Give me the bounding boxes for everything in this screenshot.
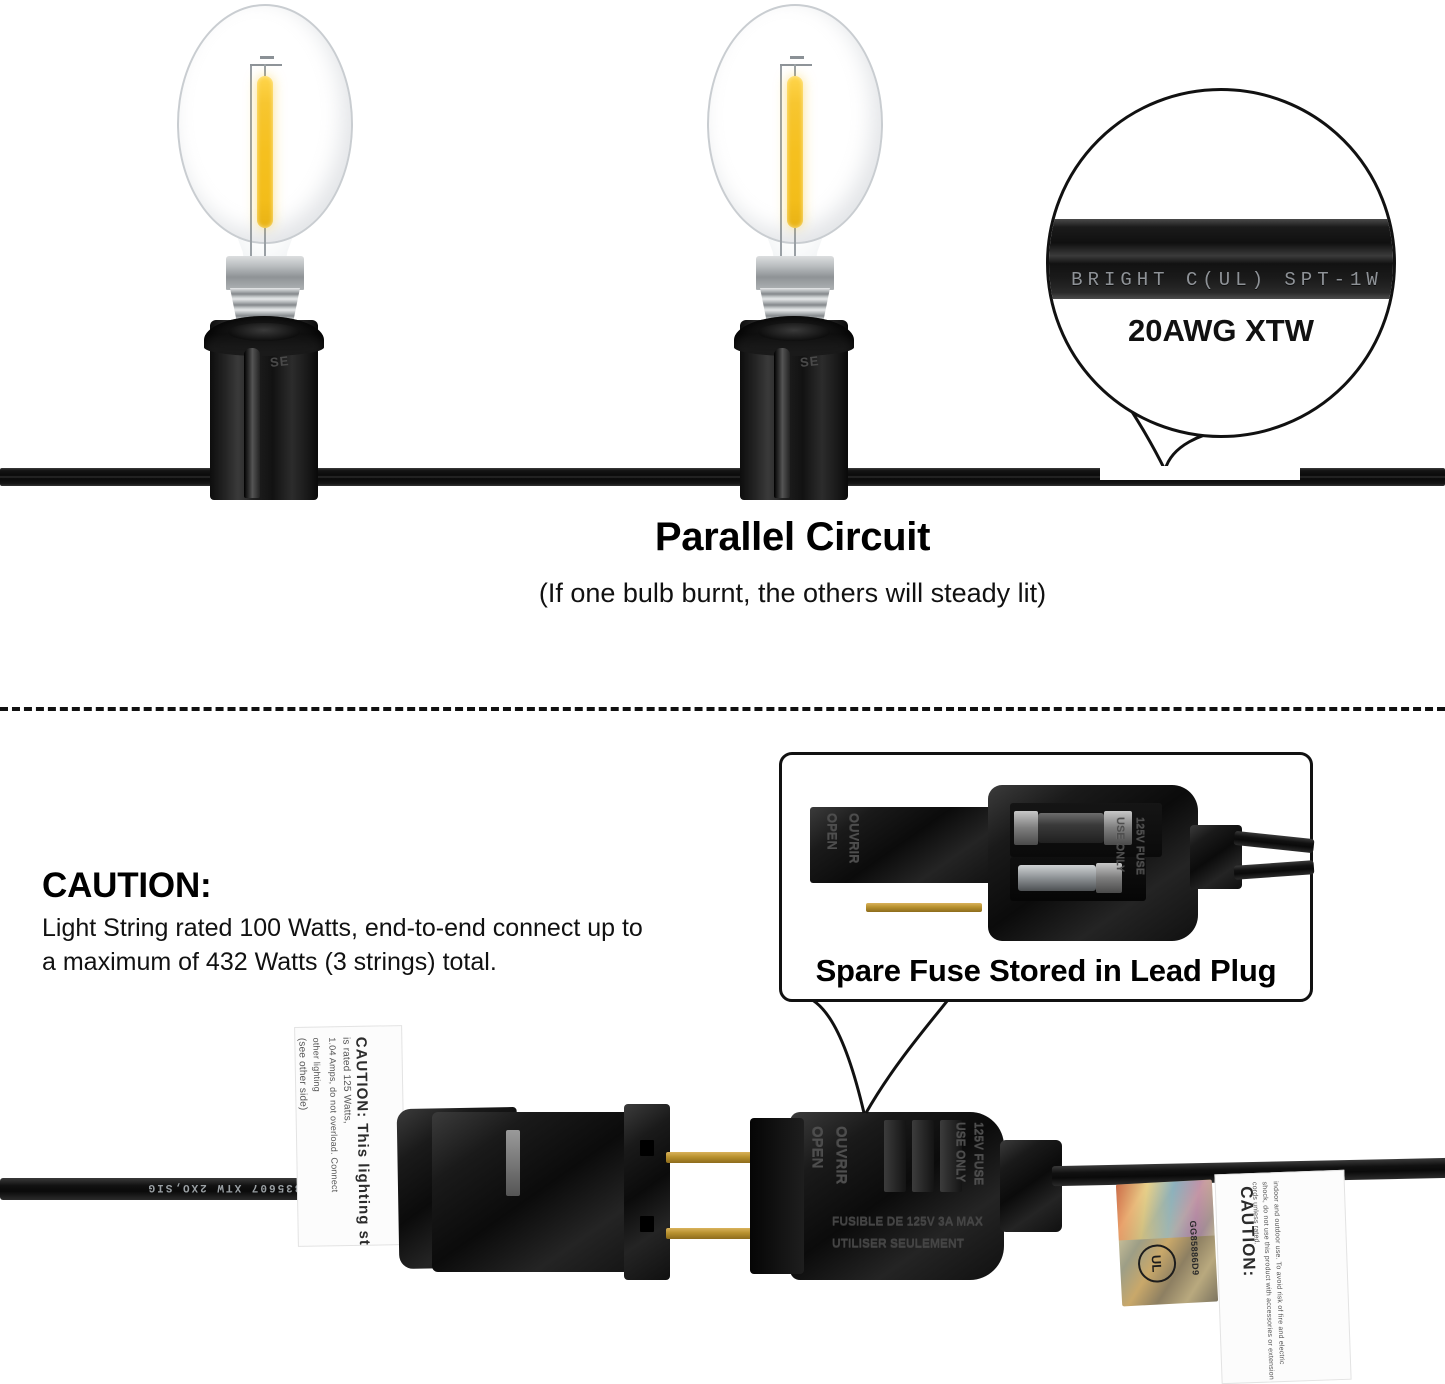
socket-emboss-label: SE: [799, 353, 820, 370]
female-socket-caution-tag: CAUTION: This lighting string is rated 1…: [294, 1025, 406, 1247]
spare-fuse-upper: [1038, 813, 1104, 843]
socket-rib: [244, 348, 260, 498]
led-filament-icon: [257, 76, 273, 228]
wire-closeup: BRIGHT C(UL) SPT-1W: [1046, 219, 1396, 299]
caution-text-block: CAUTION: Light String rated 100 Watts, e…: [42, 866, 742, 979]
spare-fuse-title: Spare Fuse Stored in Lead Plug: [782, 953, 1310, 989]
hologram-sheen: [1116, 1180, 1215, 1241]
caution-line-1: Light String rated 100 Watts, end-to-end…: [42, 912, 742, 946]
socket-rib: [774, 348, 790, 498]
bulb-assembly-2: SE: [690, 0, 900, 500]
socket-lip: [734, 316, 854, 356]
fuse-callout-tails: [800, 995, 1020, 1135]
right-tag-fineprint: indoor and outdoor use. To avoid risk of…: [1248, 1181, 1286, 1382]
tag-line-4: other lighting: [311, 1037, 322, 1092]
section-divider: [0, 707, 1445, 711]
caution-heading: CAUTION:: [42, 866, 742, 906]
male-prong-upper: [666, 1152, 752, 1163]
plug-emboss-use: USE ONLY: [1114, 817, 1126, 872]
tag-line-1: CAUTION: This lighting string: [352, 1037, 373, 1247]
filament-support-wire: [780, 64, 782, 264]
bulb-screw-base: [226, 256, 304, 290]
wire-detail-callout: BRIGHT C(UL) SPT-1W 20AWG XTW: [1046, 88, 1396, 438]
parallel-circuit-heading: Parallel Circuit: [0, 515, 1445, 560]
socket-lip: [204, 316, 324, 356]
parallel-circuit-subheading: (If one bulb burnt, the others will stea…: [0, 578, 1445, 609]
filament-tip: [260, 56, 274, 59]
spare-fuse-callout-box: OPEN OUVRIR USE ONLY 125V FUSE Spare Fus…: [779, 752, 1313, 1002]
plug-wire-lower: [1234, 860, 1315, 880]
filament-crossbar: [780, 64, 812, 66]
bulb-screw-base: [756, 256, 834, 290]
fuse-cap-left: [1014, 811, 1038, 845]
male-plug-strain-relief: [1000, 1140, 1062, 1232]
ul-mark-icon: UL: [1137, 1244, 1177, 1284]
caution-line-2: a maximum of 432 Watts (3 strings) total…: [42, 946, 742, 980]
filament-support-wire: [250, 64, 252, 264]
socket-emboss-label: SE: [269, 353, 290, 370]
filament-crossbar: [250, 64, 282, 66]
socket-slot-lower: [640, 1216, 654, 1232]
tag-line-5: (see other side): [296, 1038, 308, 1111]
socket-slot-upper: [640, 1140, 654, 1156]
wire-gauge-label: 20AWG XTW: [1049, 313, 1393, 349]
plug-prong-1: [866, 903, 982, 912]
male-plug-shoulder: [750, 1118, 804, 1274]
female-socket-face: [624, 1104, 670, 1280]
led-filament-icon: [787, 76, 803, 228]
plug-emboss-volt: 125V FUSE: [1134, 817, 1146, 875]
tag-line-2: is rated 125 Watts,: [340, 1037, 353, 1124]
male-prong-lower: [666, 1228, 752, 1239]
fuse-door-emboss-ouvrir: OUVRIR: [847, 813, 862, 864]
ul-certification-sticker: UL GG85886D9: [1116, 1180, 1218, 1307]
female-socket-slot-highlight: [506, 1130, 520, 1196]
male-plug-emboss-fr1: FUSIBLE DE 125V 3A MAX: [832, 1214, 983, 1228]
wire-print-text: BRIGHT C(UL) SPT-1W: [1046, 269, 1396, 291]
left-wire-print: E335607 XTW 2XO,SIG: [10, 1181, 310, 1193]
parallel-circuit-heading-text: Parallel Circuit: [515, 515, 930, 560]
filament-tip: [790, 56, 804, 59]
plug-wire-upper: [1233, 831, 1314, 853]
parallel-circuit-subheading-text: (If one bulb burnt, the others will stea…: [399, 578, 1046, 609]
fuse-door-emboss-open: OPEN: [825, 813, 840, 850]
tag-line-3: 1.04 Amps, do not overload. Connect: [327, 1037, 340, 1192]
infographic-canvas: SE SE BRIGHT C(UL) SPT-1W 20AWG XTW Para…: [0, 0, 1445, 1382]
right-caution-tag: CAUTION: indoor and outdoor use. To avoi…: [1214, 1170, 1351, 1384]
bulb-assembly-1: SE: [160, 0, 370, 500]
male-plug-emboss-fr2: UTILISER SEULEMENT: [832, 1236, 964, 1250]
spare-fuse-lower: [1018, 865, 1096, 891]
